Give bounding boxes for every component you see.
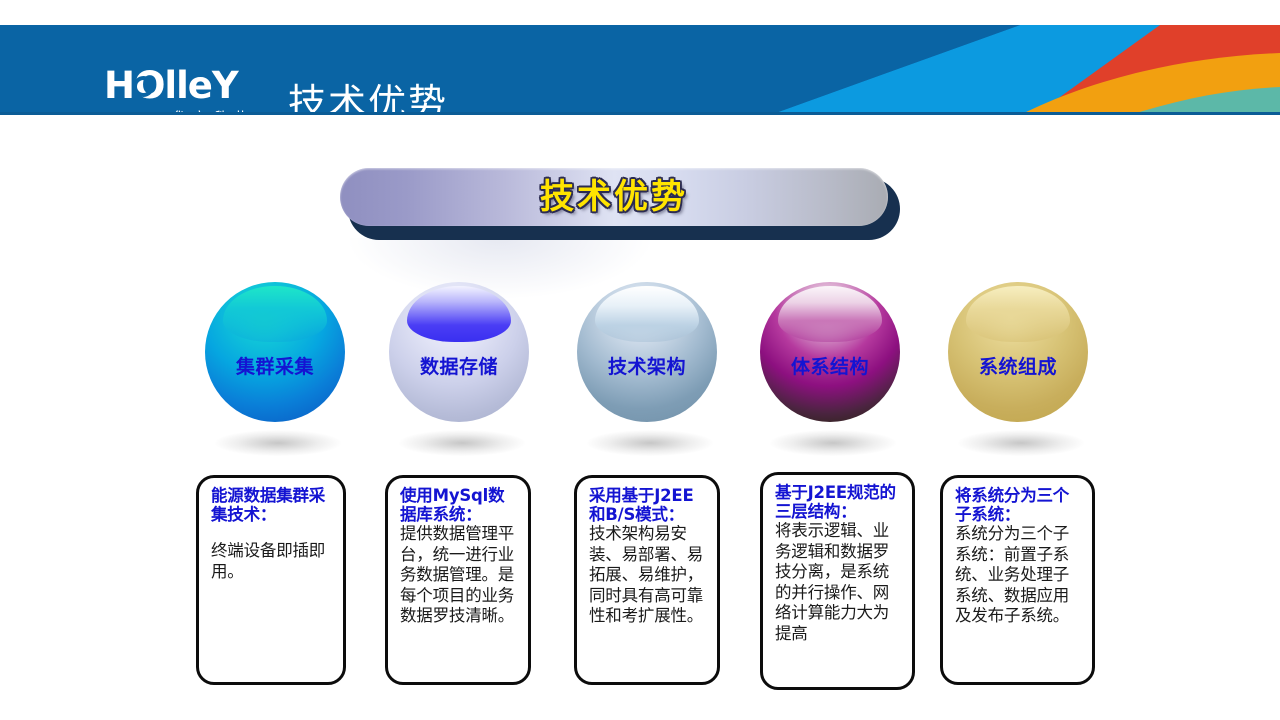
- sphere-item-system-composition[interactable]: 系统组成: [948, 282, 1094, 462]
- sphere-item-system-structure[interactable]: 体系结构: [760, 282, 906, 462]
- info-box-system-composition[interactable]: 将系统分为三个子系统： 系统分为三个子系统：前置子系统、业务处理子系统、数据应用…: [940, 475, 1095, 685]
- info-box-heading: 采用基于J2EE和B/S模式：: [589, 486, 708, 524]
- logo-ring-icon: [133, 76, 154, 97]
- info-box-data-storage[interactable]: 使用MySql数据库系统： 提供数据管理平台，统一进行业务数据管理。是每个项目的…: [385, 475, 531, 685]
- info-box-heading: 将系统分为三个子系统：: [955, 486, 1083, 524]
- info-box-heading: 能源数据集群采集技术：: [211, 486, 334, 524]
- sphere-label: 体系结构: [760, 352, 900, 379]
- sphere-highlight-cap: [223, 286, 327, 342]
- sphere-highlight-cap: [966, 286, 1070, 342]
- sphere-shadow: [770, 430, 896, 456]
- info-box-heading: 使用MySql数据库系统：: [400, 486, 519, 524]
- sphere-highlight-cap: [595, 286, 699, 342]
- header-bottom-edge: [0, 112, 1280, 115]
- sphere-highlight-cap: [407, 286, 511, 342]
- banner-title-block: 技术优势: [340, 168, 900, 244]
- info-box-body: 系统分为三个子系统：前置子系统、业务处理子系统、数据应用及发布子系统。: [955, 524, 1083, 627]
- sphere-label: 技术架构: [577, 352, 717, 379]
- page-title: 技术优势: [288, 72, 448, 115]
- slide-canvas: HOlleY T E C H 华 立 科 技 技术优势 技术优势 集群采集: [0, 0, 1280, 720]
- slide-header: HOlleY T E C H 华 立 科 技 技术优势: [0, 25, 1280, 115]
- info-box-heading: 基于J2EE规范的三层结构：: [775, 483, 903, 521]
- info-box-cluster-collection[interactable]: 能源数据集群采集技术： 终端设备即插即用。: [196, 475, 346, 685]
- company-logo: HOlleY T E C H 华 立 科 技: [104, 67, 264, 115]
- sphere-label: 集群采集: [205, 352, 345, 379]
- sphere-label: 系统组成: [948, 352, 1088, 379]
- info-box-body: 将表示逻辑、业务逻辑和数据罗技分离，是系统的并行操作、网络计算能力大为提高: [775, 521, 903, 644]
- sphere-shadow: [958, 430, 1084, 456]
- sphere-item-data-storage[interactable]: 数据存储: [389, 282, 535, 462]
- sphere-shadow: [399, 430, 525, 456]
- info-box-tech-architecture[interactable]: 采用基于J2EE和B/S模式： 技术架构易安装、易部署、易拓展、易维护，同时具有…: [574, 475, 720, 685]
- sphere-item-tech-architecture[interactable]: 技术架构: [577, 282, 723, 462]
- sphere-row: 集群采集 数据存储 技术架构 体系结构: [0, 282, 1280, 462]
- sphere-item-cluster-collection[interactable]: 集群采集: [205, 282, 351, 462]
- banner-title-text: 技术优势: [340, 168, 888, 226]
- sphere-shadow: [215, 430, 341, 456]
- info-box-system-structure[interactable]: 基于J2EE规范的三层结构： 将表示逻辑、业务逻辑和数据罗技分离，是系统的并行操…: [760, 472, 915, 690]
- sphere-label: 数据存储: [389, 352, 529, 379]
- info-box-body: 终端设备即插即用。: [211, 541, 334, 582]
- info-box-body: 提供数据管理平台，统一进行业务数据管理。是每个项目的业务数据罗技清晰。: [400, 524, 519, 627]
- logo-wordmark: HOlleY: [104, 67, 264, 105]
- header-swoosh-decoration: [620, 25, 1280, 115]
- sphere-shadow: [587, 430, 713, 456]
- info-box-body: 技术架构易安装、易部署、易拓展、易维护，同时具有高可靠性和考扩展性。: [589, 524, 708, 627]
- sphere-highlight-cap: [778, 286, 882, 342]
